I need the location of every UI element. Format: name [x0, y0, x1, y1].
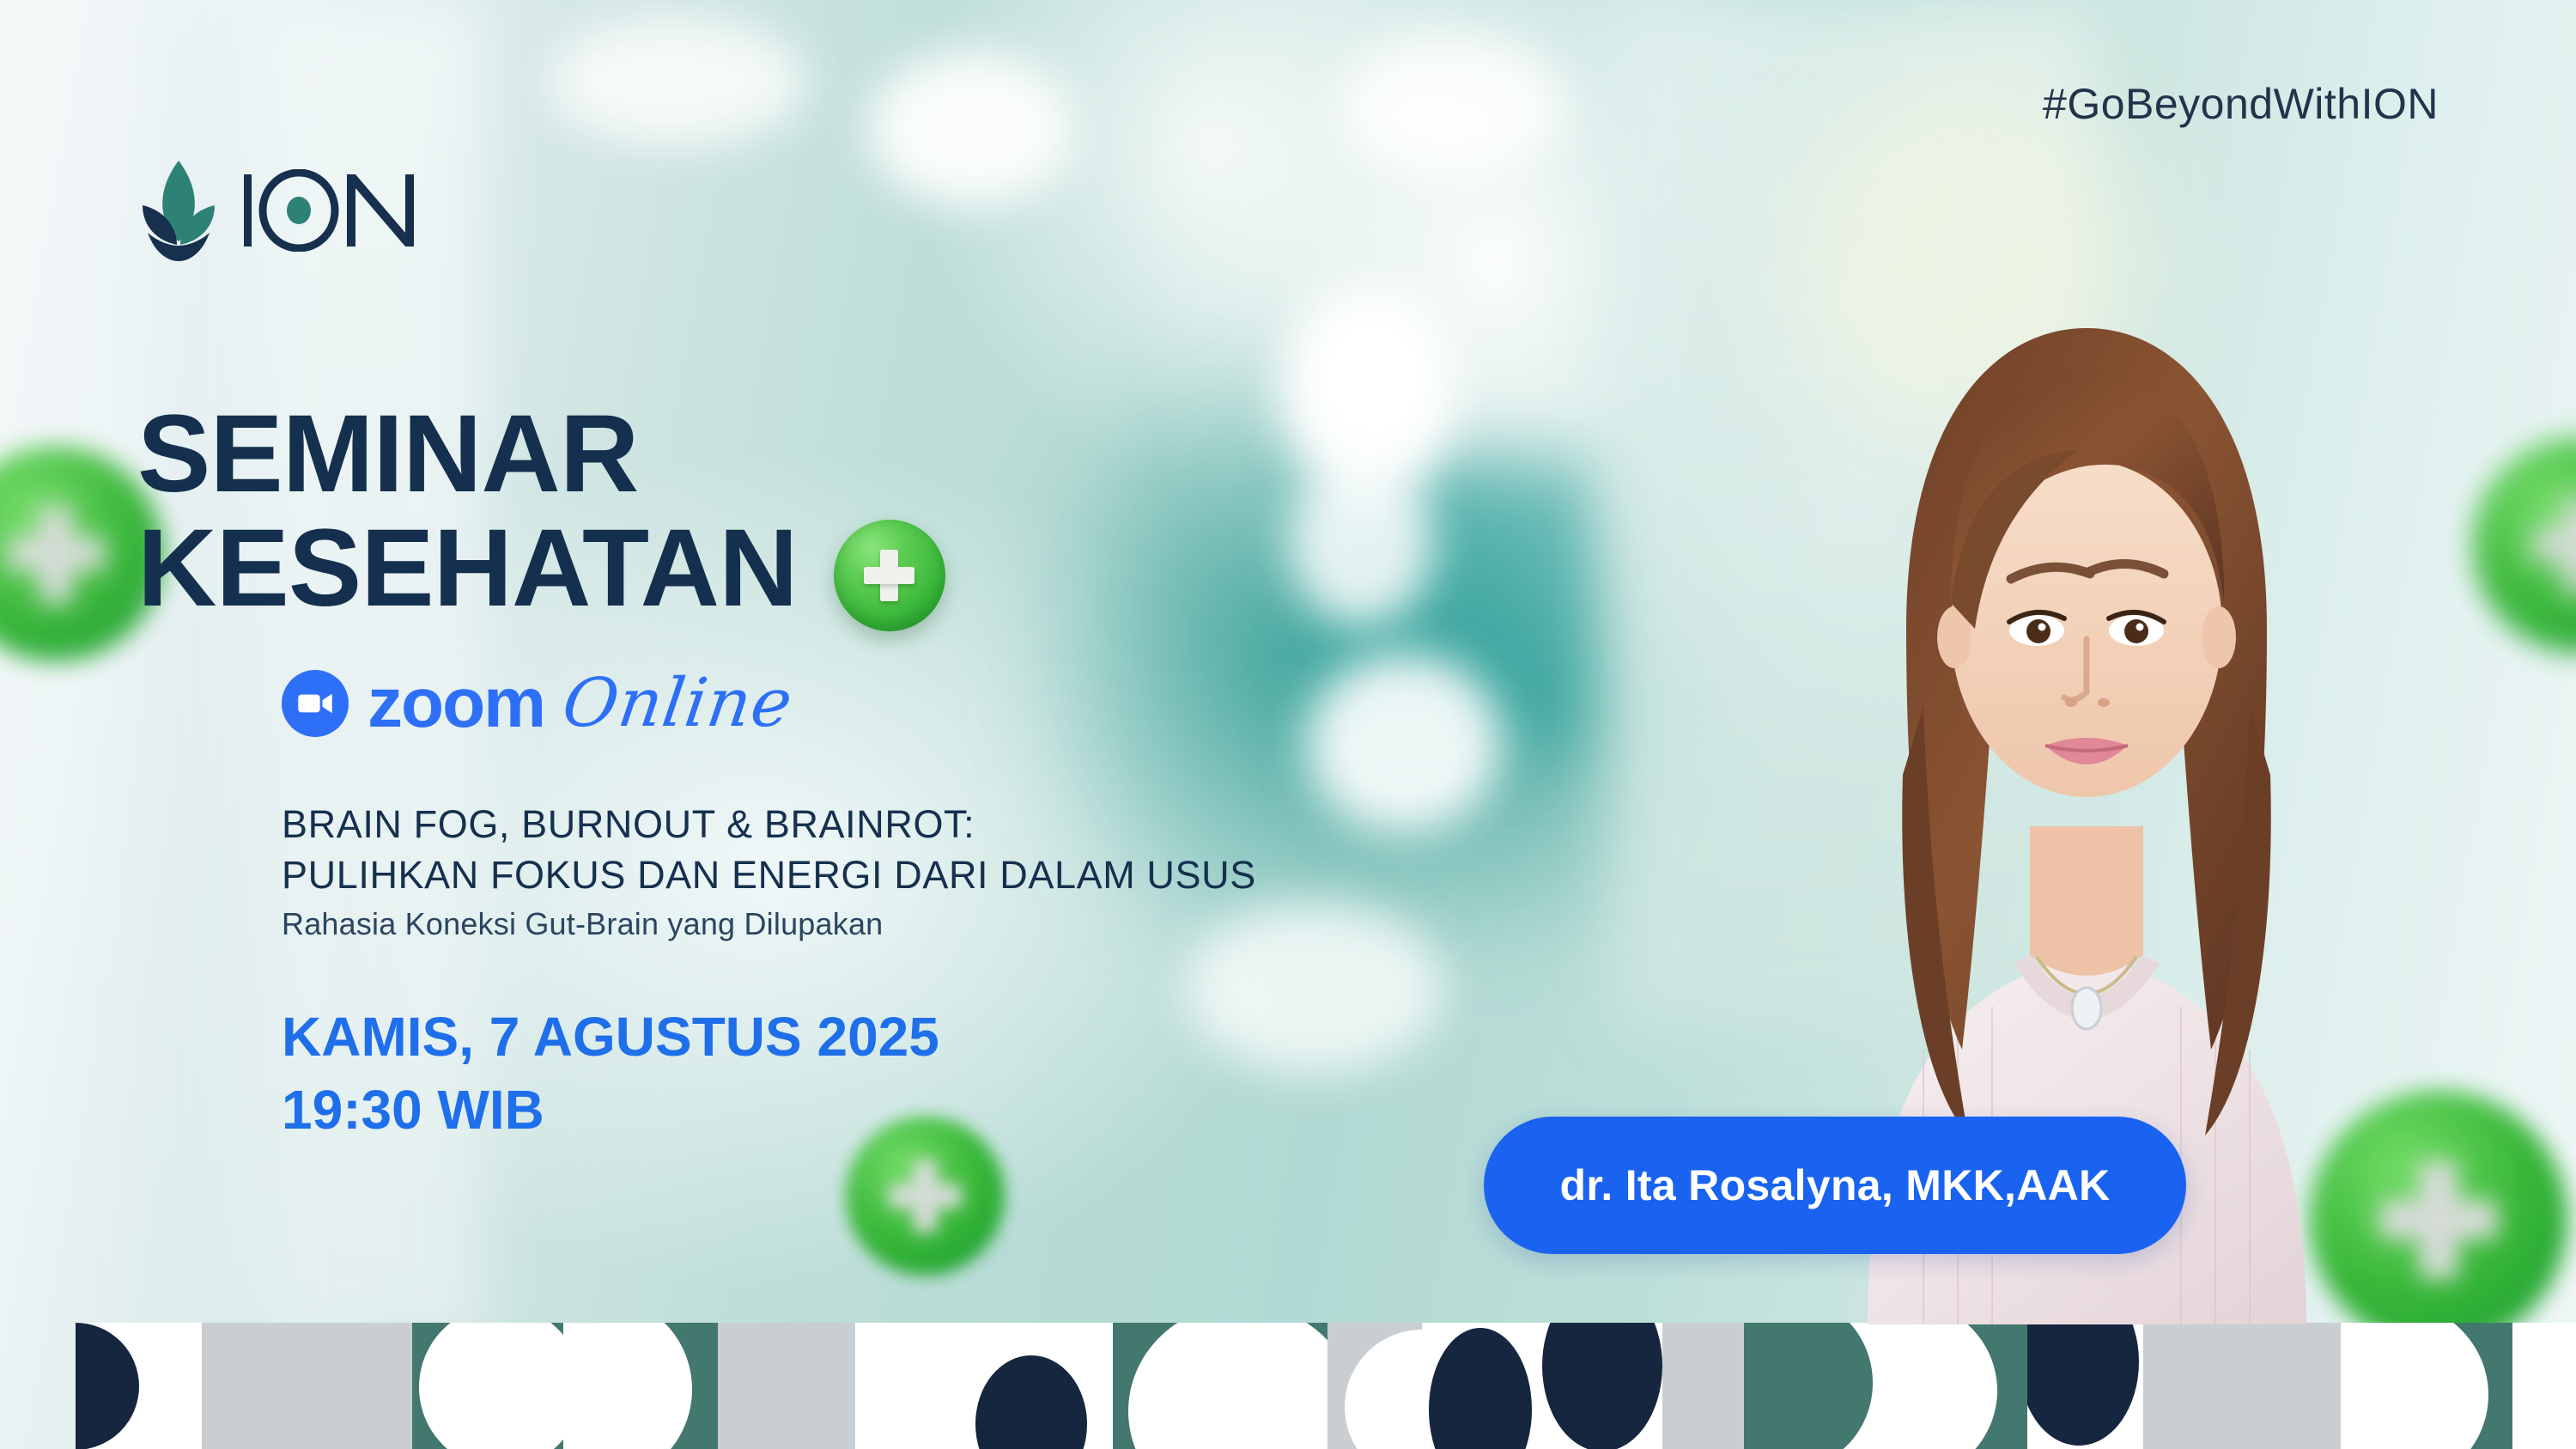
topic-line-1: BRAIN FOG, BURNOUT & BRAINROT:	[282, 799, 1256, 849]
poster-canvas: #GoBeyondWithION SEMINAR KESEHATAN zoom …	[0, 0, 2576, 1449]
headline-line-1: SEMINAR	[137, 402, 945, 508]
pattern-tile	[76, 1323, 202, 1449]
schedule: KAMIS, 7 AGUSTUS 2025 19:30 WIB	[282, 1001, 939, 1147]
pattern-tile	[2143, 1323, 2341, 1449]
pattern-tile	[2512, 1323, 2576, 1449]
bokeh-light-4	[867, 52, 1073, 206]
bokeh-light-6	[550, 17, 807, 146]
cross-glyph	[2531, 496, 2576, 595]
bokeh-light-3	[1305, 653, 1503, 833]
bokeh-light-7	[1185, 902, 1443, 1074]
medical-cross-badge-accent	[834, 520, 945, 631]
pattern-tile	[1327, 1323, 1422, 1449]
ion-leaf-logo-icon	[137, 159, 220, 262]
cross-glyph	[7, 505, 106, 604]
pattern-tile	[1422, 1323, 1534, 1449]
pattern-tile	[563, 1323, 718, 1449]
speaker-name-badge: dr. Ita Rosalyna, MKK,AAK	[1484, 1117, 2186, 1254]
zoom-mode-label: Online	[558, 665, 798, 742]
bokeh-light-5	[1340, 34, 1563, 180]
pattern-tile	[1873, 1323, 2027, 1449]
pattern-tile	[412, 1323, 563, 1449]
topic-heading: BRAIN FOG, BURNOUT & BRAINROT: PULIHKAN …	[282, 799, 1256, 901]
pattern-tile	[1662, 1323, 1744, 1449]
ion-logo	[137, 159, 422, 262]
pattern-tile	[202, 1323, 412, 1449]
cross-glyph	[2379, 1160, 2498, 1279]
pattern-tile	[950, 1323, 1113, 1449]
schedule-time: 19:30 WIB	[282, 1074, 939, 1147]
zoom-wordmark: zoom	[368, 668, 544, 739]
topic-tagline: Rahasia Koneksi Gut-Brain yang Dilupakan	[282, 906, 883, 942]
cross-glyph	[889, 1160, 962, 1233]
pattern-tile	[2027, 1323, 2143, 1449]
platform-row: zoom Online	[282, 665, 793, 742]
pattern-tile	[855, 1323, 950, 1449]
bottom-pattern-strip	[76, 1323, 2576, 1449]
page-title: SEMINAR KESEHATAN	[137, 402, 945, 631]
cross-glyph	[864, 550, 915, 601]
headline-line-2: KESEHATAN	[137, 516, 798, 622]
schedule-date: KAMIS, 7 AGUSTUS 2025	[282, 1001, 939, 1074]
pattern-tile	[2341, 1323, 2512, 1449]
bokeh-light-2	[1288, 455, 1434, 627]
pattern-tile	[1744, 1323, 1873, 1449]
pattern-tile	[1113, 1323, 1327, 1449]
zoom-video-camera-icon	[282, 670, 349, 737]
topic-line-2: PULIHKAN FOKUS DAN ENERGI DARI DALAM USU…	[282, 849, 1256, 900]
ion-logo-text	[242, 169, 422, 252]
hashtag: #GoBeyondWithION	[2043, 79, 2439, 129]
pattern-tile	[718, 1323, 855, 1449]
pattern-tile	[1534, 1323, 1662, 1449]
